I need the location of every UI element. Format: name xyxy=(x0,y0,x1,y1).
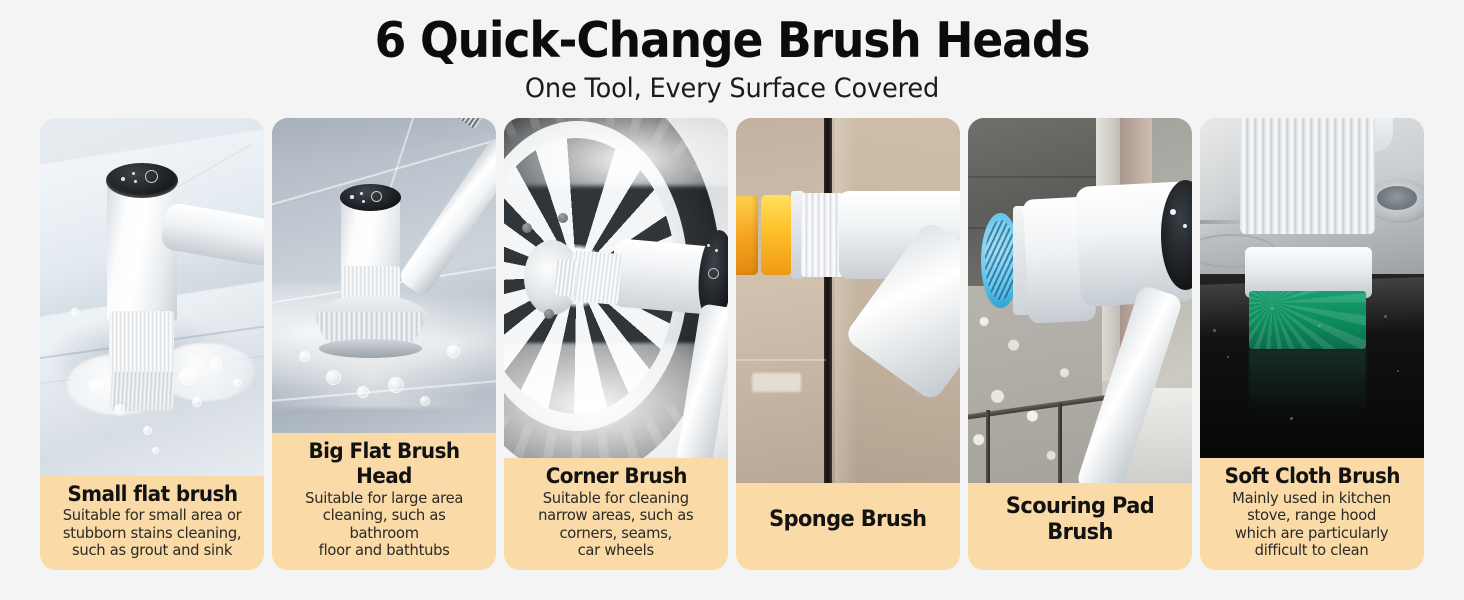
page-title: 6 Quick-Change Brush Heads xyxy=(51,14,1413,69)
brush-head-card-row: Small flat brush Suitable for small area… xyxy=(40,118,1424,570)
product-photo-sponge-brush xyxy=(736,118,960,483)
brush-card-big-flat-brush-head[interactable]: Big Flat Brush Head Suitable for large a… xyxy=(272,118,496,570)
card-title: Small flat brush xyxy=(67,482,237,507)
card-caption: Scouring Pad Brush xyxy=(968,483,1192,570)
header: 6 Quick-Change Brush Heads One Tool, Eve… xyxy=(0,0,1464,106)
page-subtitle: One Tool, Every Surface Covered xyxy=(37,71,1428,106)
product-photo-scouring-pad-brush xyxy=(968,118,1192,483)
brush-card-corner-brush[interactable]: Corner Brush Suitable for cleaning narro… xyxy=(504,118,728,570)
product-photo-big-flat-brush-head xyxy=(272,118,496,433)
power-button-icon xyxy=(371,191,382,202)
card-title: Soft Cloth Brush xyxy=(1224,464,1399,489)
card-description: Suitable for large area cleaning, such a… xyxy=(305,490,463,560)
product-infographic: 6 Quick-Change Brush Heads One Tool, Eve… xyxy=(0,0,1464,600)
card-caption: Corner Brush Suitable for cleaning narro… xyxy=(504,458,728,570)
power-button-icon xyxy=(708,268,719,279)
card-caption: Sponge Brush xyxy=(736,483,960,570)
product-photo-soft-cloth-brush xyxy=(1200,118,1424,458)
brush-card-sponge-brush[interactable]: Sponge Brush xyxy=(736,118,960,570)
card-title: Sponge Brush xyxy=(769,507,926,534)
card-caption: Small flat brush Suitable for small area… xyxy=(40,476,264,570)
card-title: Corner Brush xyxy=(545,464,686,489)
card-description: Suitable for cleaning narrow areas, such… xyxy=(538,490,693,560)
brush-card-scouring-pad-brush[interactable]: Scouring Pad Brush xyxy=(968,118,1192,570)
card-description: Suitable for small area or stubborn stai… xyxy=(63,507,242,560)
brush-card-soft-cloth-brush[interactable]: Soft Cloth Brush Mainly used in kitchen … xyxy=(1200,118,1424,570)
card-caption: Soft Cloth Brush Mainly used in kitchen … xyxy=(1200,458,1424,570)
brush-card-small-flat-brush[interactable]: Small flat brush Suitable for small area… xyxy=(40,118,264,570)
product-photo-corner-brush xyxy=(504,118,728,458)
card-description: Mainly used in kitchen stove, range hood… xyxy=(1233,490,1392,560)
card-title: Scouring Pad Brush xyxy=(1006,494,1154,548)
product-photo-small-flat-brush xyxy=(40,118,264,476)
card-title: Big Flat Brush Head xyxy=(285,439,483,489)
card-caption: Big Flat Brush Head Suitable for large a… xyxy=(272,433,496,570)
